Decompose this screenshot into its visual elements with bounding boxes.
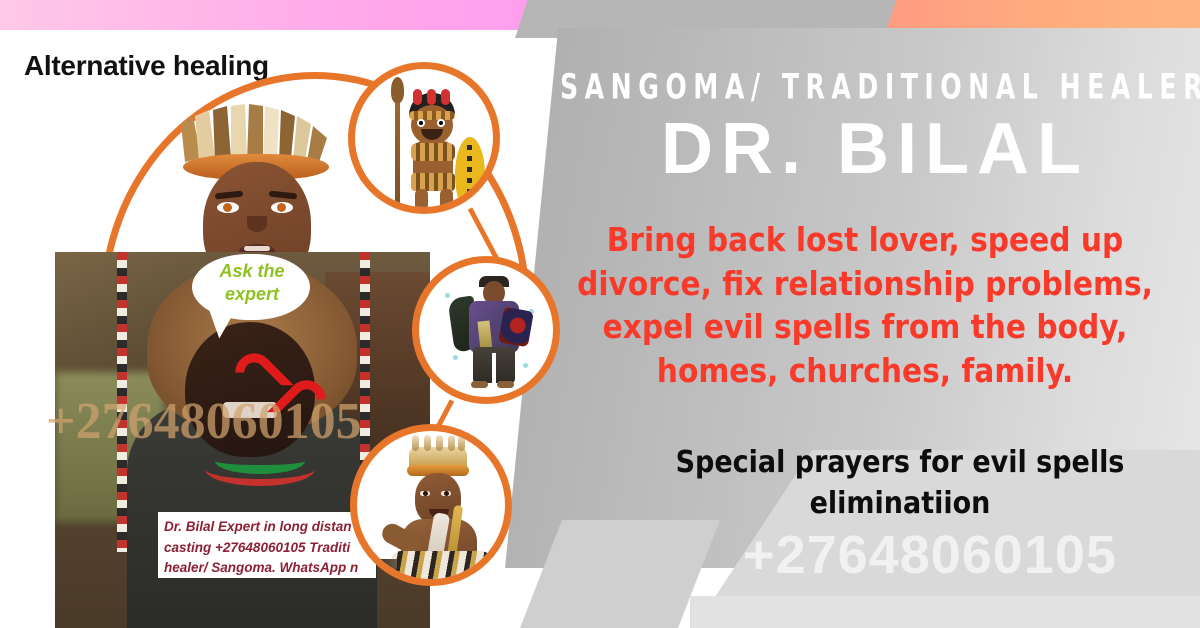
speech-bubble-label: Ask the expert [196, 260, 308, 305]
warrior-chest-fur [411, 143, 455, 161]
warrior-eye-left [417, 119, 425, 127]
circle-image-crouching-warrior [350, 424, 512, 586]
services-text: Bring back lost lover, speed up divorce,… [540, 218, 1190, 392]
crouching-warrior-skirt [391, 551, 491, 585]
nose [247, 216, 267, 232]
circle-image-zulu-warrior [348, 62, 500, 214]
caption-line-1: Dr. Bilal Expert in long distan [164, 517, 370, 538]
page-title: DR. BILAL [560, 108, 1190, 190]
gray-accent-shape-c [690, 596, 1200, 628]
crouching-eye-right [441, 491, 451, 496]
healer-figure [457, 281, 529, 389]
caption-line-3: healer/ Sangoma. WhatsApp n [164, 558, 370, 578]
warrior-eye-right [437, 119, 445, 127]
sparkle-1 [445, 293, 450, 298]
eye-left [217, 202, 239, 213]
figure-shoe-left [471, 381, 488, 388]
poster-canvas: SANGOMA/ TRADITIONAL HEALER DR. BILAL Br… [0, 0, 1200, 628]
photo-caption: Dr. Bilal Expert in long distan casting … [158, 512, 376, 578]
warrior-headband [409, 111, 455, 120]
shield-icon [455, 137, 485, 213]
figure-shield-icon [498, 307, 534, 348]
circle-image-healer-figure [412, 256, 560, 404]
photo-red-beads [205, 452, 315, 486]
top-bar-pink [0, 0, 600, 30]
crouching-eye-left [420, 491, 430, 496]
phone-watermark: +27648060105 [660, 524, 1200, 586]
alternative-healing-label: Alternative healing [24, 50, 269, 82]
spear-tip-icon [391, 77, 404, 103]
figure-leg-gap [492, 353, 496, 383]
eye-right [271, 202, 293, 213]
headline-kicker: SANGOMA/ TRADITIONAL HEALER [560, 66, 1180, 107]
figure-shoe-right [497, 381, 514, 388]
warrior-leg-left [415, 189, 428, 214]
crouching-warrior-feather-prop [371, 559, 397, 575]
special-offer-text: Special prayers for evil spells eliminat… [600, 443, 1200, 524]
caption-line-2: casting +27648060105 Traditi [164, 538, 370, 559]
